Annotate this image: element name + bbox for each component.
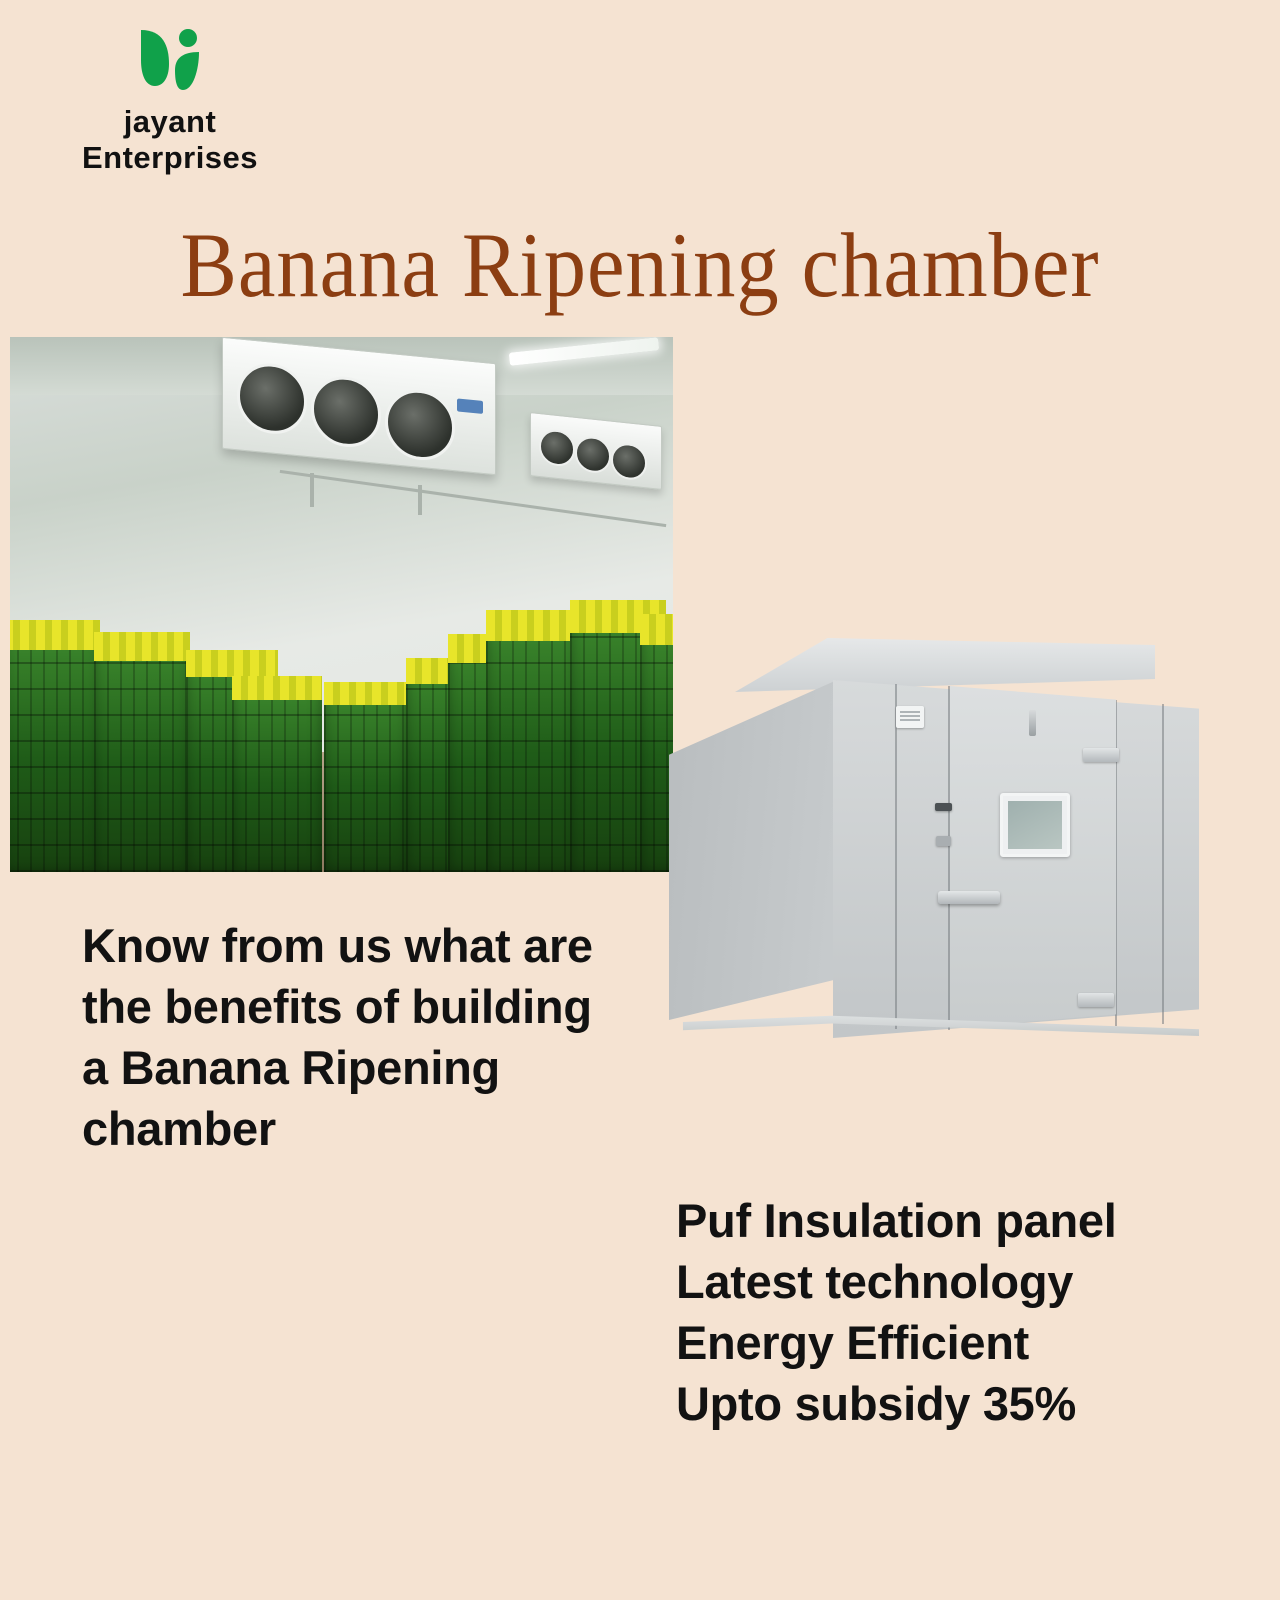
door-hinge-upper	[1083, 748, 1119, 762]
evaporator-fan	[575, 435, 611, 475]
window-glass	[1008, 801, 1062, 849]
panel-seam	[948, 686, 950, 1030]
evaporator-fan	[611, 442, 647, 482]
vent-louver	[900, 715, 920, 717]
leaf-sprout-logo-icon	[133, 24, 207, 96]
vent-louver	[900, 711, 920, 713]
evaporator-fan	[237, 360, 307, 437]
evaporator-fan	[539, 428, 575, 468]
panel-seam	[895, 684, 897, 1029]
door-latch-upper[interactable]	[935, 803, 952, 811]
air-vent-icon	[896, 706, 924, 728]
benefits-headline-text: Know from us what are the benefits of bu…	[82, 915, 602, 1159]
feature-item: Puf Insulation panel	[676, 1190, 1216, 1251]
vent-louver	[900, 719, 920, 721]
feature-item: Upto subsidy 35%	[676, 1373, 1216, 1434]
feature-item: Latest technology	[676, 1251, 1216, 1312]
panel-seam	[1162, 704, 1164, 1024]
feature-item: Energy Efficient	[676, 1312, 1216, 1373]
brand-name-line-1: jayant	[0, 104, 340, 140]
pipe-hanger	[418, 485, 422, 515]
cold-room-product-image: TRUFROST	[663, 638, 1208, 1068]
chamber-door[interactable]: TRUFROST	[950, 686, 1116, 1028]
door-latch-lower[interactable]	[936, 836, 951, 846]
brand-name-line-2: Enterprises	[0, 140, 340, 176]
ripening-room-photo	[10, 337, 673, 872]
door-lever-handle[interactable]	[938, 891, 1000, 904]
evaporator-brand-badge	[457, 398, 483, 414]
evaporator-fan	[311, 373, 381, 450]
page-title: Banana Ripening chamber	[51, 212, 1229, 318]
pipe-hanger	[310, 473, 314, 507]
door-lock-pin	[1029, 710, 1036, 736]
brand-block: jayant Enterprises	[0, 24, 340, 176]
crate-stack	[94, 632, 190, 872]
crate-stack	[10, 620, 100, 872]
crate-stacks	[10, 577, 673, 872]
evaporator-fan	[385, 387, 455, 464]
poster-canvas: jayant Enterprises Banana Ripening chamb…	[0, 0, 1280, 1600]
feature-list: Puf Insulation panel Latest technology E…	[676, 1190, 1216, 1434]
chamber-side-panel	[669, 680, 837, 1020]
crate-stack	[232, 676, 322, 872]
door-hinge-lower	[1078, 993, 1114, 1007]
crate-stack	[324, 682, 408, 872]
brand-name: jayant Enterprises	[0, 104, 340, 176]
door-viewing-window	[1000, 793, 1070, 857]
chamber-roof	[735, 638, 1155, 692]
crate-stack	[486, 610, 578, 872]
